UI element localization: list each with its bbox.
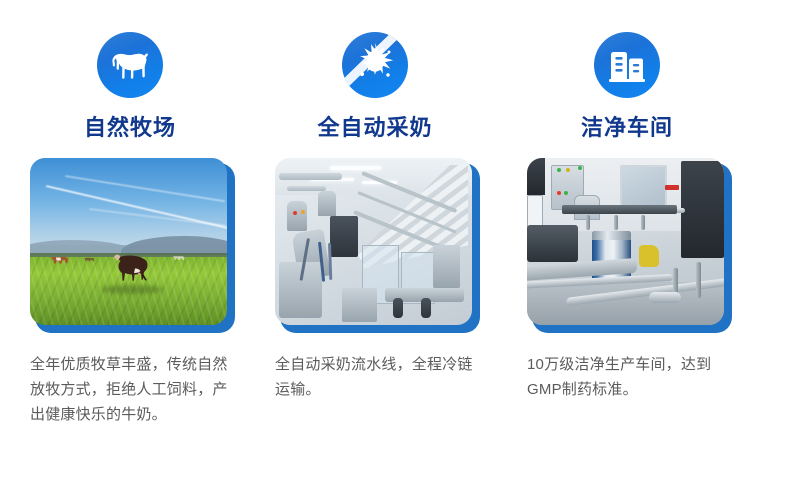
icon-badge-wrap — [30, 17, 230, 113]
pasture-photo[interactable] — [30, 158, 235, 333]
photo-image-production-line — [275, 158, 472, 325]
cow-icon — [97, 32, 163, 98]
feature-title: 自然牧场 — [30, 115, 230, 141]
features-board: 自然牧场 — [0, 0, 790, 491]
icon-badge-wrap — [275, 17, 475, 113]
feature-card-natural-pasture[interactable]: 自然牧场 — [0, 0, 255, 491]
icon-badge-wrap — [527, 17, 727, 113]
cleanroom-photo[interactable] — [527, 158, 732, 333]
feature-caption: 10万级洁净生产车间，达到GMP制药标准。 — [527, 352, 727, 402]
feature-title: 洁净车间 — [527, 115, 727, 141]
production-line-photo[interactable] — [275, 158, 480, 333]
photo-image-pasture — [30, 158, 227, 325]
feature-caption: 全自动采奶流水线，全程冷链运输。 — [275, 352, 480, 402]
photo-image-cleanroom — [527, 158, 724, 325]
milk-splash-icon — [342, 32, 408, 98]
feature-card-automated-milking[interactable]: 全自动采奶 — [255, 0, 510, 491]
feature-title: 全自动采奶 — [275, 115, 475, 141]
feature-card-clean-workshop[interactable]: 洁净车间 — [510, 0, 765, 491]
feature-caption: 全年优质牧草丰盛，传统自然放牧方式，拒绝人工饲料，产出健康快乐的牛奶。 — [30, 352, 238, 427]
factory-building-icon — [594, 32, 660, 98]
